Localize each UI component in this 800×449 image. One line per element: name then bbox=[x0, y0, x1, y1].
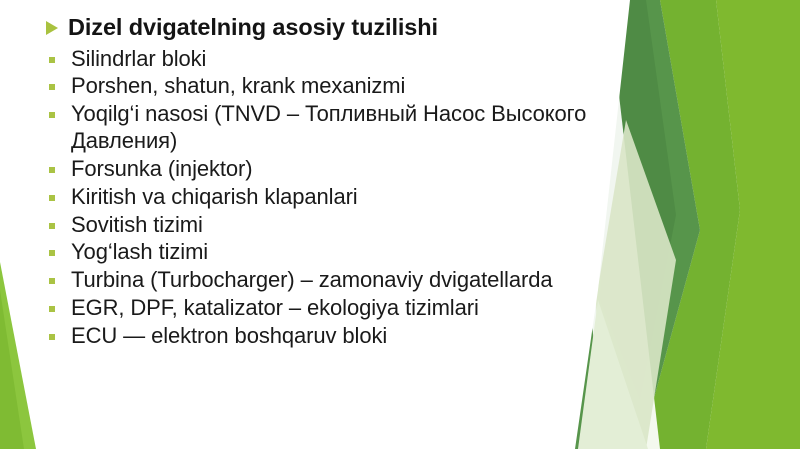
list-item: Turbina (Turbocharger) – zamonaviy dviga… bbox=[0, 267, 690, 294]
list-item: Silindrlar bloki bbox=[0, 46, 690, 73]
list-item: Yog‘lash tizimi bbox=[0, 239, 690, 266]
list-item-label: Turbina (Turbocharger) – zamonaviy dviga… bbox=[71, 267, 552, 294]
list-item-label: Porshen, shatun, krank mexanizmi bbox=[71, 73, 405, 100]
list-item: Kiritish va chiqarish klapanlari bbox=[0, 184, 690, 211]
slide-title-row: Dizel dvigatelning asosiy tuzilishi bbox=[0, 12, 690, 43]
slide-content: Dizel dvigatelning asosiy tuzilishi Sili… bbox=[0, 0, 690, 351]
list-item: Porshen, shatun, krank mexanizmi bbox=[0, 73, 690, 100]
square-bullet-icon bbox=[49, 278, 55, 284]
list-item-label: Kiritish va chiqarish klapanlari bbox=[71, 184, 358, 211]
list-item-label: Sovitish tizimi bbox=[71, 212, 203, 239]
square-bullet-icon bbox=[49, 306, 55, 312]
square-bullet-icon bbox=[49, 57, 55, 63]
square-bullet-icon bbox=[49, 112, 55, 118]
square-bullet-icon bbox=[49, 334, 55, 340]
slide-canvas: Dizel dvigatelning asosiy tuzilishi Sili… bbox=[0, 0, 800, 449]
square-bullet-icon bbox=[49, 84, 55, 90]
list-item: EGR, DPF, katalizator – ekologiya tiziml… bbox=[0, 295, 690, 322]
list-item: ECU — elektron boshqaruv bloki bbox=[0, 323, 690, 350]
list-item: Yoqilg‘i nasosi (TNVD – Топливный Насос … bbox=[0, 101, 690, 155]
square-bullet-icon bbox=[49, 250, 55, 256]
page-title: Dizel dvigatelning asosiy tuzilishi bbox=[68, 12, 438, 43]
triangle-right-icon bbox=[46, 21, 58, 35]
list-item-label: Forsunka (injektor) bbox=[71, 156, 253, 183]
deco-shape-bright-right bbox=[706, 0, 800, 449]
list-item-label: Silindrlar bloki bbox=[71, 46, 206, 73]
list-item-label: EGR, DPF, katalizator – ekologiya tiziml… bbox=[71, 295, 479, 322]
square-bullet-icon bbox=[49, 223, 55, 229]
list-item-label: ECU — elektron boshqaruv bloki bbox=[71, 323, 387, 350]
list-item-label: Yoqilg‘i nasosi (TNVD – Топливный Насос … bbox=[71, 101, 690, 155]
square-bullet-icon bbox=[49, 167, 55, 173]
list-item: Forsunka (injektor) bbox=[0, 156, 690, 183]
square-bullet-icon bbox=[49, 195, 55, 201]
list-item: Sovitish tizimi bbox=[0, 212, 690, 239]
list-item-label: Yog‘lash tizimi bbox=[71, 239, 208, 266]
